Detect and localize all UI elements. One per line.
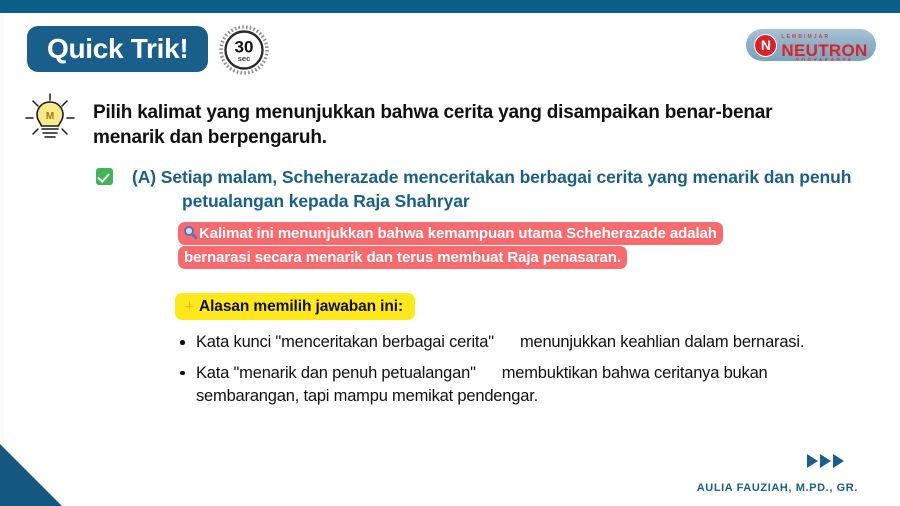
triple-right-arrow-icon	[807, 454, 844, 468]
left-edge-strip	[0, 13, 4, 506]
answer-option-a[interactable]: (A) Setiap malam, Scheherazade mencerita…	[96, 165, 892, 213]
answer-option-a-line2: petualangan kepada Raja Shahryar	[132, 189, 892, 213]
quick-trik-badge-label: Quick Trik!	[47, 35, 188, 63]
reason-item-2-part1: Kata "menarik dan penuh petualangan"	[196, 364, 476, 382]
timer-unit: sec	[238, 54, 251, 63]
list-item: Kata kunci "menceritakan berbagai cerita…	[178, 331, 868, 354]
explanation-block: Kalimat ini menunjukkan bahwa kemampuan …	[178, 222, 778, 271]
quick-trik-badge: Quick Trik!	[27, 26, 208, 72]
neutron-logo: N LEMBIMJAR NEUTRON YOGYAKARTA	[746, 29, 876, 61]
reason-item-1-part2: menunjukkan keahlian dalam bernarasi.	[520, 333, 804, 351]
sparkle-icon	[183, 300, 196, 313]
green-check-icon	[96, 168, 113, 185]
reason-heading-label: Alasan memilih jawaban ini:	[199, 298, 403, 315]
top-decorative-bar	[0, 0, 900, 13]
lightbulb-icon: M	[22, 93, 78, 143]
timer-30sec-icon: 30 sec	[219, 25, 269, 75]
reason-item-1-part1: Kata kunci "menceritakan berbagai cerita…	[196, 333, 494, 351]
logo-wordmark: LEMBIMJAR NEUTRON YOGYAKARTA	[781, 29, 867, 61]
lightbulb-letter: M	[46, 111, 54, 122]
reason-heading-highlight: Alasan memilih jawaban ini:	[175, 293, 415, 320]
list-item: Kata "menarik dan penuh petualangan"memb…	[178, 362, 868, 408]
logo-main-text: NEUTRON	[781, 42, 867, 60]
question-text: Pilih kalimat yang menunjukkan bahwa cer…	[93, 100, 793, 151]
magnifying-glass-icon	[184, 226, 198, 240]
reason-heading-block: Alasan memilih jawaban ini:	[175, 293, 415, 320]
reason-list: Kata kunci "menceritakan berbagai cerita…	[178, 331, 868, 415]
explanation-highlight: Kalimat ini menunjukkan bahwa kemampuan …	[178, 222, 723, 269]
bottom-left-triangle-decoration	[0, 444, 62, 506]
explanation-text: Kalimat ini menunjukkan bahwa kemampuan …	[184, 225, 717, 266]
logo-top-text: LEMBIMJAR	[781, 34, 830, 40]
answer-option-a-line1: (A) Setiap malam, Scheherazade mencerita…	[132, 167, 851, 187]
logo-bottom-text: YOGYAKARTA	[781, 59, 867, 61]
logo-mark-icon: N	[754, 34, 777, 57]
author-credit: AULIA FAUZIAH, M.PD., GR.	[697, 482, 858, 494]
slide-canvas: Quick Trik! 30 sec N LEMBIMJAR NEUTRON Y…	[0, 0, 900, 506]
